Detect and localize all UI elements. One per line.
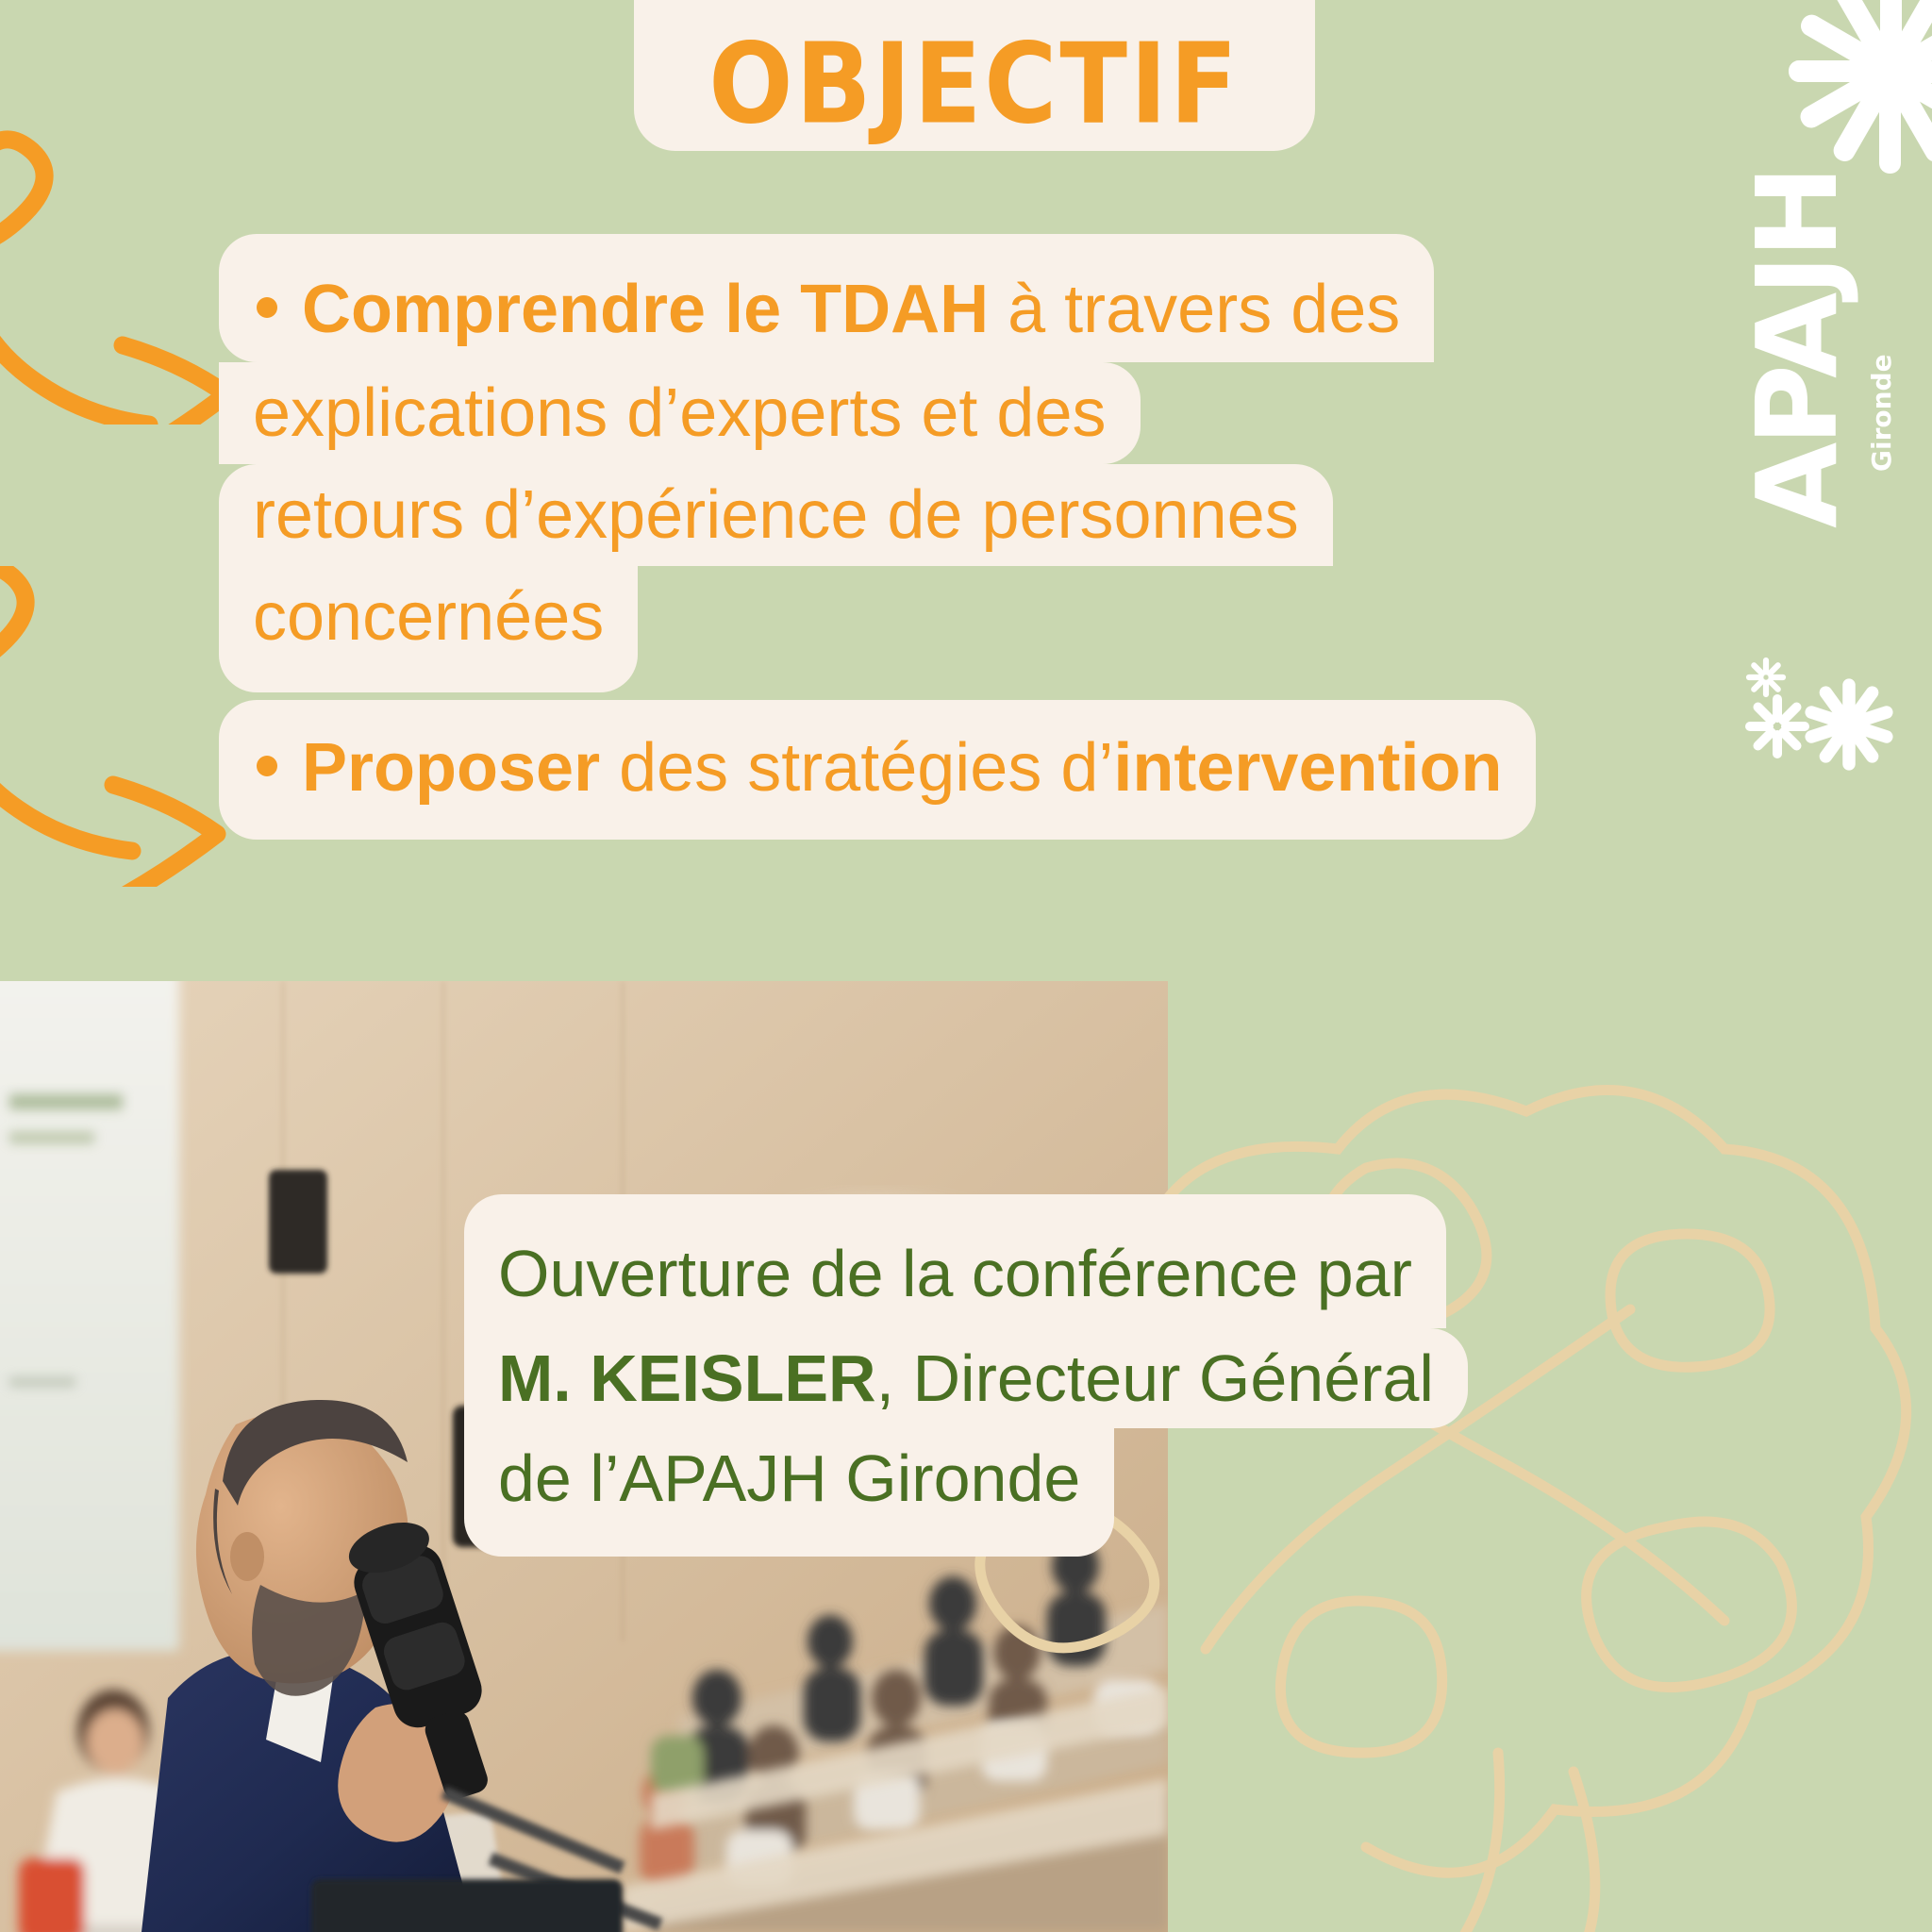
bullet-line: Comprendre le TDAH à travers des — [219, 234, 1434, 362]
bullet-line: retours d’expérience de personnes — [219, 464, 1333, 566]
sunburst-icon — [1789, 0, 1932, 174]
caption-text: Ouverture de la conférence par — [498, 1237, 1412, 1310]
bullet-strong: intervention — [1113, 730, 1502, 806]
caption-text: de l’APAJH Gironde — [498, 1441, 1080, 1515]
caption-line: Ouverture de la conférence par — [464, 1194, 1446, 1328]
caption-line: M. KEISLER, Directeur Général — [464, 1328, 1468, 1428]
logo-wordmark: APAJH — [1732, 169, 1862, 528]
photo-caption: Ouverture de la conférence par M. KEISLE… — [464, 1194, 1468, 1557]
caption-line: de l’APAJH Gironde — [464, 1428, 1114, 1557]
bullet-line: explications d’experts et des — [219, 362, 1141, 464]
caption-text: , Directeur Général — [876, 1341, 1434, 1415]
bullet-line: concernées — [219, 566, 638, 692]
bullet-strong: Comprendre le TDAH — [302, 272, 989, 347]
bullet-text: retours d’expérience de personnes — [253, 477, 1299, 553]
poster-canvas: APAJH Gironde — [0, 0, 1932, 1932]
bullet-proposer: Proposer des stratégies d’intervention — [219, 700, 1536, 840]
title-pill: OBJECTIF — [634, 0, 1315, 151]
caption-strong: M. KEISLER — [498, 1341, 876, 1415]
page-title: OBJECTIF — [708, 29, 1241, 141]
bullet-text: concernées — [253, 579, 604, 655]
bullet-comprendre: Comprendre le TDAH à travers des explica… — [219, 234, 1434, 692]
bullet-line: Proposer des stratégies d’intervention — [219, 700, 1536, 840]
apajh-logo: APAJH Gironde — [1724, 0, 1932, 783]
bullet-dot-icon — [257, 297, 277, 318]
bullet-text: à travers des — [989, 272, 1400, 347]
curly-arrow-icon — [0, 566, 245, 887]
bullet-dot-icon — [257, 756, 277, 776]
bullet-text: des stratégies d’ — [600, 730, 1113, 806]
bullet-strong: Proposer — [302, 730, 600, 806]
bullet-text: explications d’experts et des — [253, 375, 1107, 451]
logo-subtitle: Gironde — [1866, 354, 1897, 472]
asterisk-cluster-icon — [1745, 658, 1894, 771]
